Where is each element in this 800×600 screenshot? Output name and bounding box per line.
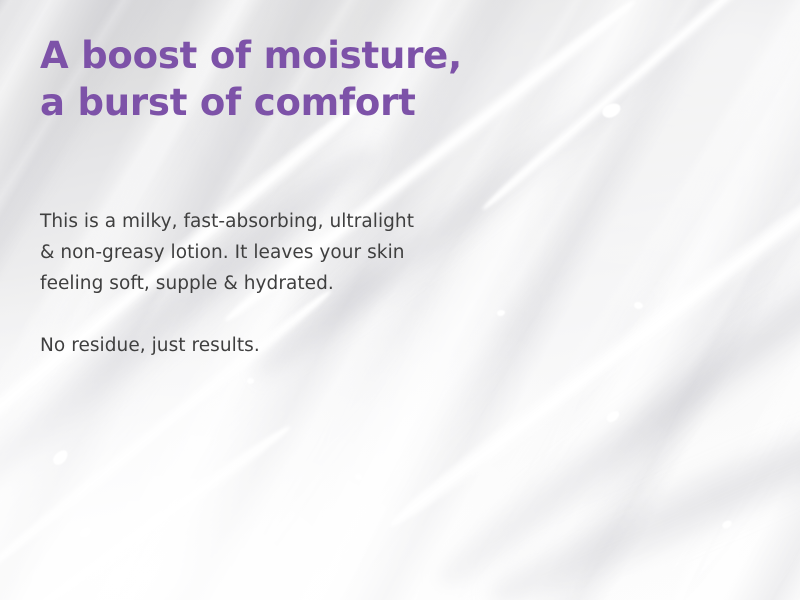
lotion-crest-highlight (477, 0, 800, 216)
marketing-banner: A boost of moisture, a burst of comfort … (0, 0, 800, 600)
banner-body-copy: This is a milky, fast-absorbing, ultrali… (40, 175, 510, 392)
banner-body-paragraph-1: This is a milky, fast-absorbing, ultrali… (40, 206, 510, 299)
lotion-fleck (721, 519, 733, 530)
lotion-fleck (51, 448, 71, 468)
lotion-fleck (78, 525, 94, 540)
lotion-trough-shadow (476, 379, 800, 600)
banner-copy-block: A boost of moisture, a burst of comfort … (40, 32, 510, 392)
banner-body-paragraph-2: No residue, just results. (40, 330, 510, 361)
lotion-fleck (600, 101, 622, 120)
lotion-fleck (605, 409, 622, 424)
lotion-fleck (633, 301, 644, 310)
lotion-crest-highlight (0, 418, 296, 600)
lotion-fleck (354, 473, 363, 482)
banner-headline: A boost of moisture, a burst of comfort (40, 32, 510, 126)
